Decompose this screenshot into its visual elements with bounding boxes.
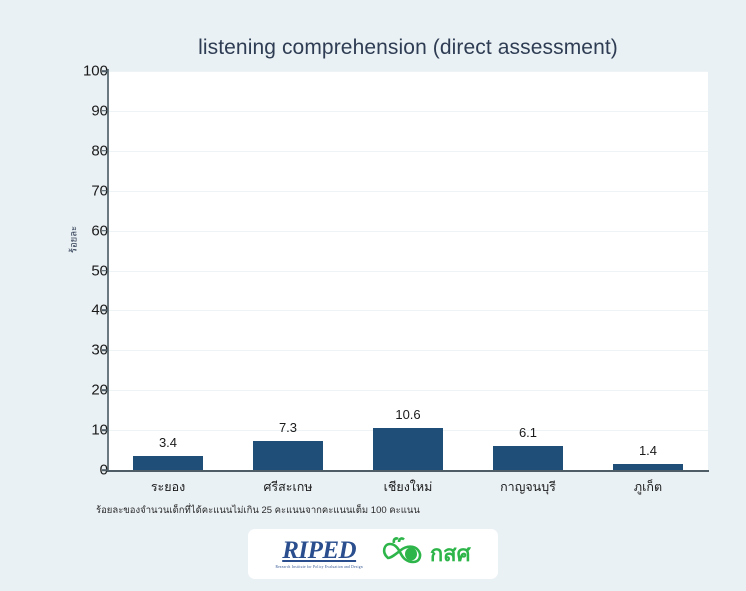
y-tick-label: 50 [60, 262, 108, 279]
y-tick-label: 90 [60, 102, 108, 119]
bar-value-label: 6.1 [488, 425, 568, 440]
x-axis-line [107, 470, 709, 472]
y-tick-label: 40 [60, 302, 108, 319]
x-tick-label: ภูเก็ต [588, 477, 708, 497]
bar[interactable] [253, 441, 323, 470]
bar-value-label: 10.6 [368, 407, 448, 422]
y-tick-label: 10 [60, 422, 108, 439]
riped-subtitle: Research Institute for Policy Evaluation… [275, 566, 362, 570]
y-tick-label: 30 [60, 342, 108, 359]
chart-title: listening comprehension (direct assessme… [108, 36, 708, 60]
y-tick-label: 70 [60, 182, 108, 199]
y-tick-label: 100 [60, 63, 108, 80]
chart-figure: listening comprehension (direct assessme… [0, 0, 746, 591]
bar[interactable] [373, 428, 443, 470]
logo-strip: RIPED Research Institute for Policy Eval… [248, 529, 498, 579]
bar-value-label: 3.4 [128, 435, 208, 450]
bar[interactable] [493, 446, 563, 470]
riped-logo: RIPED Research Institute for Policy Eval… [275, 538, 362, 569]
bar-value-label: 1.4 [608, 443, 688, 458]
kosos-logo: กสศ [381, 537, 471, 572]
bars-layer: 3.47.310.66.11.4 [108, 71, 708, 470]
x-axis-labels: ระยองศรีสะเกษเชียงใหม่กาญจนบุรีภูเก็ต [108, 477, 708, 499]
bar[interactable] [613, 464, 683, 470]
y-tick-label: 20 [60, 382, 108, 399]
bar[interactable] [133, 456, 203, 470]
y-tick-label: 80 [60, 142, 108, 159]
x-tick-label: เชียงใหม่ [348, 477, 468, 497]
x-tick-label: ศรีสะเกษ [228, 477, 348, 497]
x-tick-label: ระยอง [108, 477, 228, 497]
chart-footnote: ร้อยละของจำนวนเด็กที่ได้คะแนนไม่เกิน 25 … [96, 503, 420, 518]
riped-wordmark: RIPED [282, 538, 356, 563]
y-tick-label: 0 [60, 462, 108, 479]
butterfly-infinity-icon [381, 537, 425, 572]
bar-value-label: 7.3 [248, 420, 328, 435]
kosos-wordmark: กสศ [430, 543, 471, 565]
y-tick-label: 60 [60, 222, 108, 239]
x-tick-label: กาญจนบุรี [468, 477, 588, 497]
